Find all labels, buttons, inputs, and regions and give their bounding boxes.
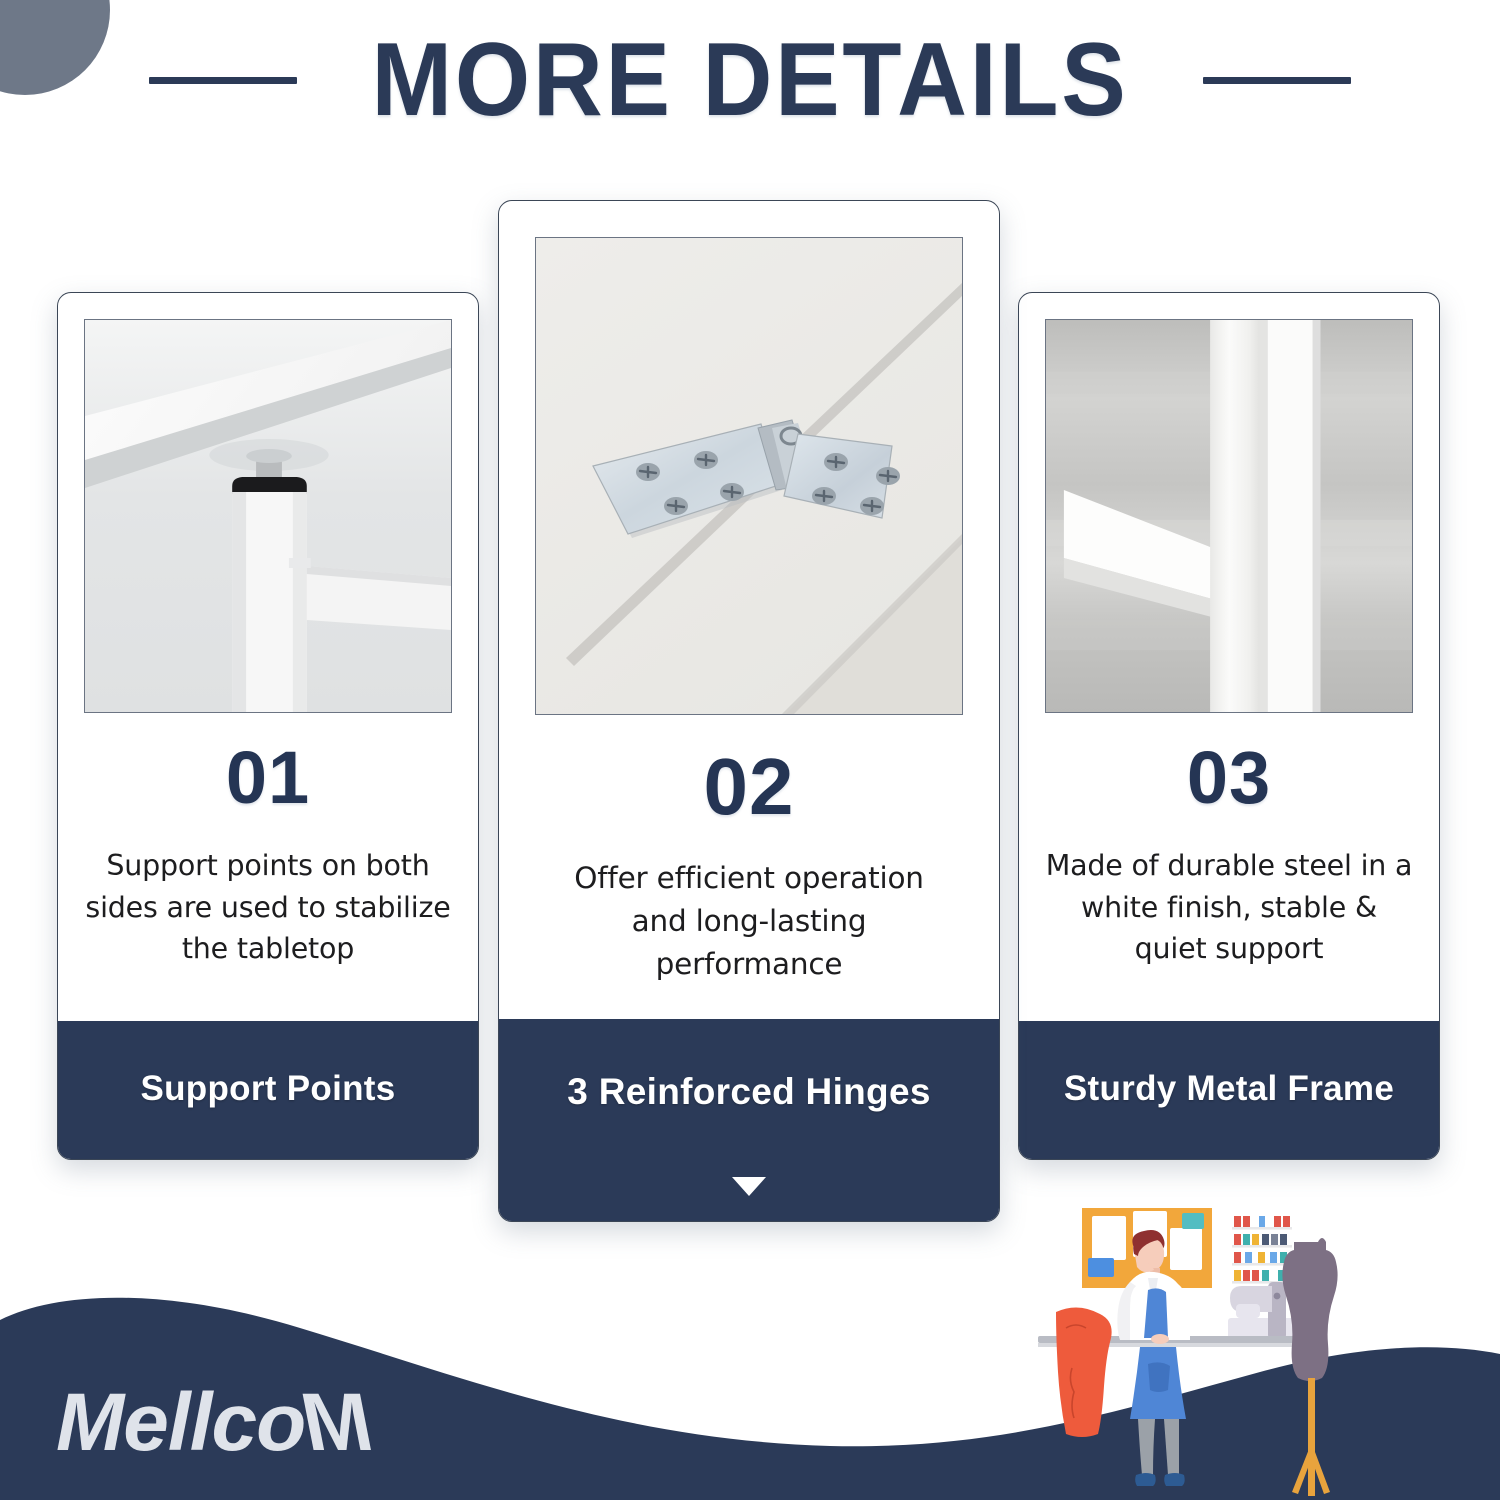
sewing-room-illustration xyxy=(1030,1200,1500,1500)
card-3-description: Made of durable steel in a white finish,… xyxy=(1037,845,1421,970)
card-1-body: 01 Support points on both sides are used… xyxy=(58,713,478,1021)
feature-card-1[interactable]: 01 Support points on both sides are used… xyxy=(57,292,479,1160)
card-2-description: Offer efficient operation and long-lasti… xyxy=(517,857,981,986)
feature-card-2[interactable]: 02 Offer efficient operation and long-la… xyxy=(498,200,1000,1222)
feature-card-3[interactable]: 03 Made of durable steel in a white fini… xyxy=(1018,292,1440,1160)
card-1-band-curve xyxy=(57,1159,479,1160)
metal-frame-photo-art xyxy=(1046,320,1412,712)
card-1-description: Support points on both sides are used to… xyxy=(76,845,460,970)
brand-logo-main: Mellco xyxy=(56,1376,305,1470)
card-1-band: Support Points xyxy=(58,1021,478,1159)
support-point-photo-art xyxy=(85,320,451,712)
card-3-band: Sturdy Metal Frame xyxy=(1019,1021,1439,1159)
card-2-band-curve xyxy=(498,1221,1000,1222)
card-3-band-curve xyxy=(1018,1159,1440,1160)
card-2-number: 02 xyxy=(517,747,981,827)
card-3-band-label: Sturdy Metal Frame xyxy=(1019,1069,1439,1109)
red-fabric-icon xyxy=(1056,1307,1112,1437)
dress-form-icon xyxy=(1282,1238,1337,1496)
card-1-band-label: Support Points xyxy=(58,1069,478,1109)
card-3-photo xyxy=(1045,319,1413,713)
card-3-body: 03 Made of durable steel in a white fini… xyxy=(1019,713,1439,1021)
brand-logo: MellcoM xyxy=(56,1376,372,1470)
card-1-photo xyxy=(84,319,452,713)
brand-logo-flipped-m: M xyxy=(305,1376,372,1470)
feature-cards: 01 Support points on both sides are used… xyxy=(0,0,1500,1240)
card-2-band: 3 Reinforced Hinges xyxy=(499,1019,999,1221)
card-2-photo xyxy=(535,237,963,715)
card-2-band-label: 3 Reinforced Hinges xyxy=(499,1071,999,1113)
hinge-photo-art xyxy=(536,238,962,714)
card-2-body: 02 Offer efficient operation and long-la… xyxy=(499,715,999,1019)
card-3-number: 03 xyxy=(1037,741,1421,815)
card-1-number: 01 xyxy=(76,741,460,815)
chevron-down-icon xyxy=(732,1177,766,1196)
